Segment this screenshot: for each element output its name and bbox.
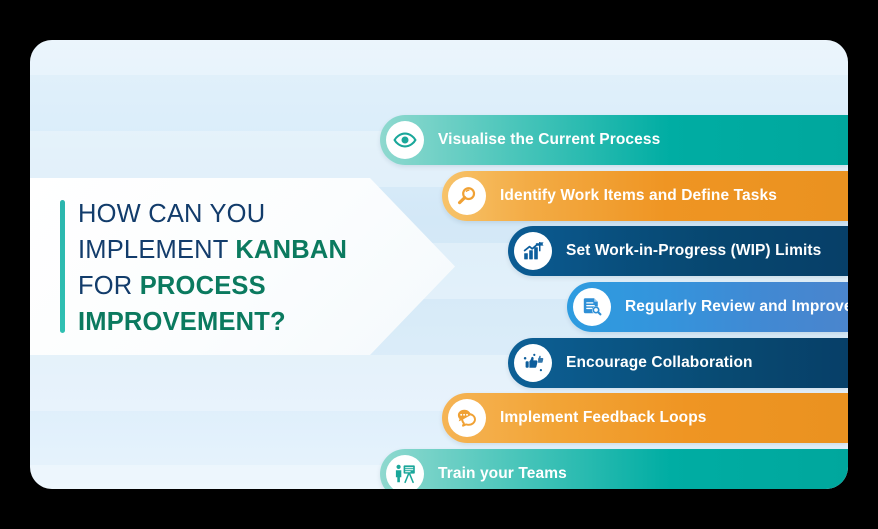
title-line-3-highlight: PROCESS (140, 272, 266, 300)
title-line-3-plain: FOR (78, 272, 140, 300)
title-line-1: HOW CAN YOU (78, 200, 265, 228)
title-line-4-highlight: IMPROVEMENT? (78, 308, 286, 336)
step-label: Set Work-in-Progress (WIP) Limits (566, 242, 821, 260)
background-band (30, 40, 848, 75)
page-title: HOW CAN YOU IMPLEMENT KANBAN FOR PROCESS… (78, 196, 438, 340)
title-line-2-highlight: KANBAN (235, 236, 347, 264)
title-panel: HOW CAN YOU IMPLEMENT KANBAN FOR PROCESS… (30, 178, 455, 355)
step-row-identify-work-items[interactable]: Identify Work Items and Define Tasks (442, 171, 848, 221)
magnifier-icon (448, 177, 486, 215)
presenter-training-icon (386, 455, 424, 489)
step-label: Regularly Review and Improve (625, 298, 848, 316)
infographic-card: HOW CAN YOU IMPLEMENT KANBAN FOR PROCESS… (30, 40, 848, 489)
step-label: Identify Work Items and Define Tasks (500, 187, 777, 205)
thumbs-up-group-icon (514, 344, 552, 382)
document-search-icon (573, 288, 611, 326)
step-row-wip-limits[interactable]: Set Work-in-Progress (WIP) Limits (508, 226, 848, 276)
step-label: Train your Teams (438, 465, 567, 483)
step-row-feedback-loops[interactable]: Implement Feedback Loops (442, 393, 848, 443)
step-row-train-teams[interactable]: Train your Teams (380, 449, 848, 489)
step-label: Encourage Collaboration (566, 354, 753, 372)
speech-bubbles-icon (448, 399, 486, 437)
title-line-2-plain: IMPLEMENT (78, 236, 235, 264)
step-label: Implement Feedback Loops (500, 409, 707, 427)
step-row-review-improve[interactable]: Regularly Review and Improve (567, 282, 848, 332)
step-label: Visualise the Current Process (438, 131, 660, 149)
infographic-root: HOW CAN YOU IMPLEMENT KANBAN FOR PROCESS… (0, 0, 878, 529)
eye-icon (386, 121, 424, 159)
step-row-encourage-collaboration[interactable]: Encourage Collaboration (508, 338, 848, 388)
title-accent-bar (60, 200, 65, 333)
bar-chart-growth-icon (514, 232, 552, 270)
step-row-visualise[interactable]: Visualise the Current Process (380, 115, 848, 165)
